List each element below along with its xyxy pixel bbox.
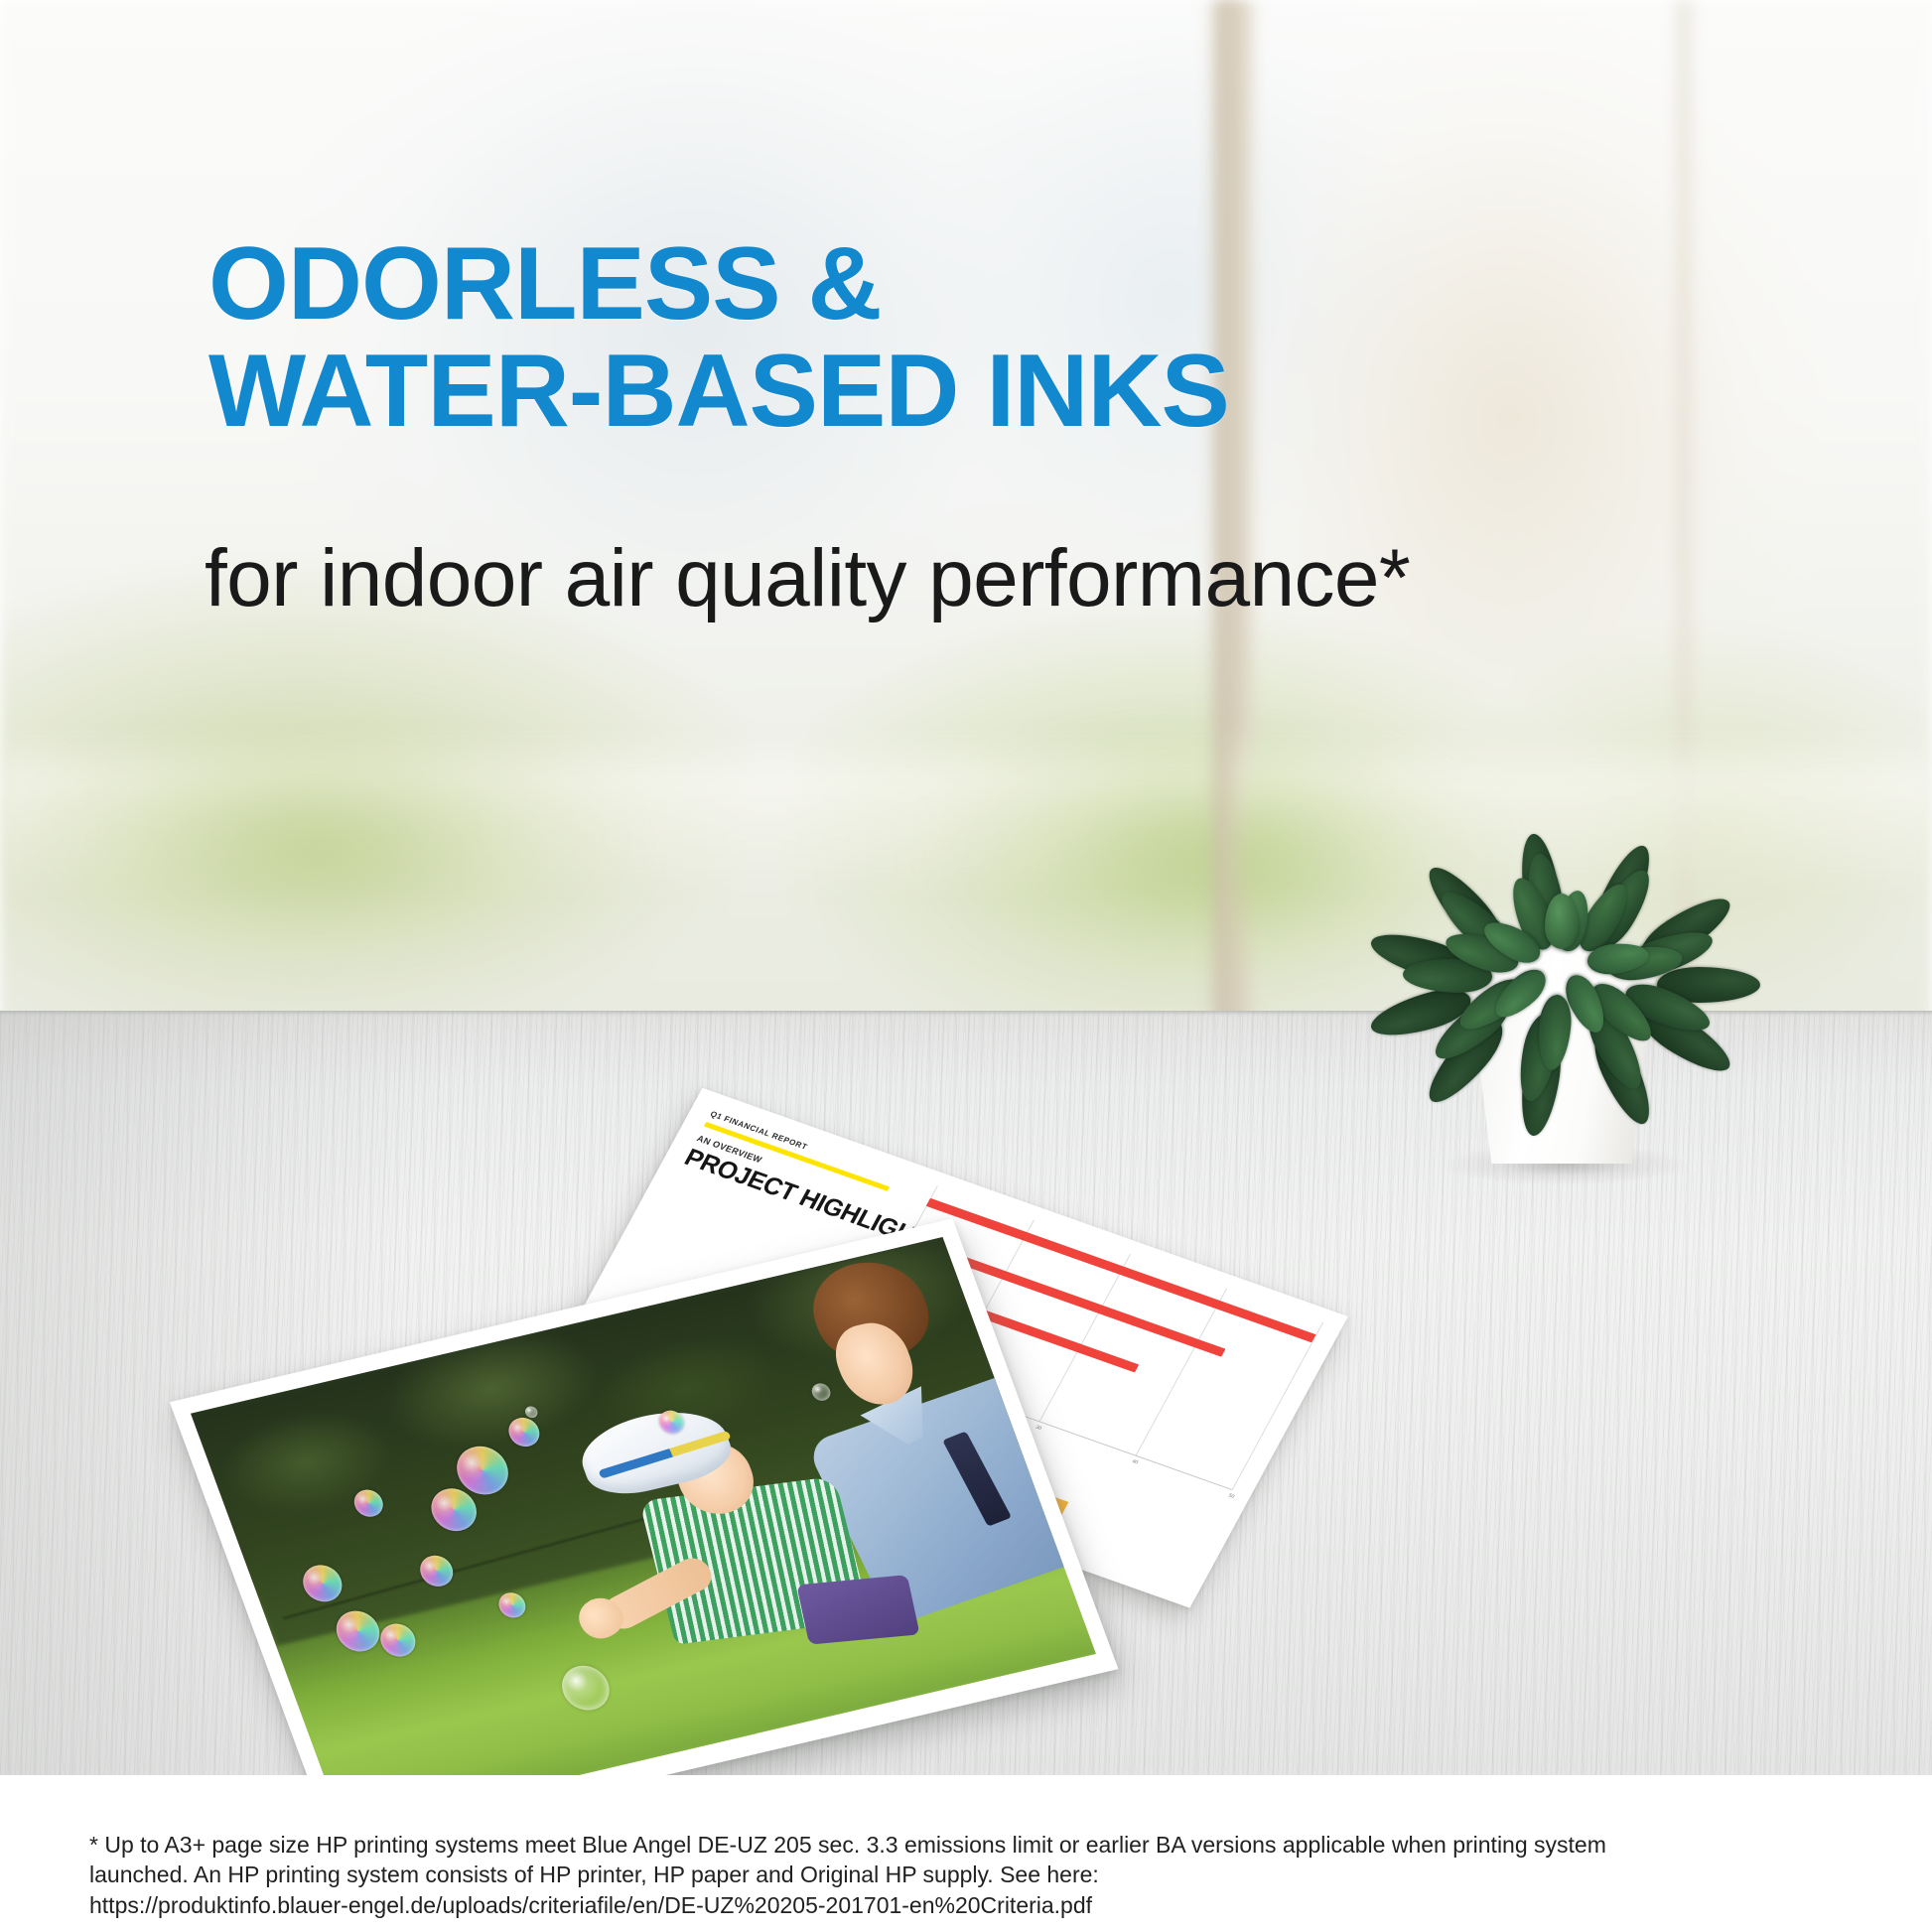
footnote-line-2: launched. An HP printing system consists… xyxy=(89,1860,1866,1889)
poster-canvas: Q1 FINANCIAL REPORT AN OVERVIEW PROJECT … xyxy=(0,0,1932,1932)
chart-tick: 50 xyxy=(1227,1493,1235,1500)
headline-line-1: ODORLESS & xyxy=(208,226,882,342)
toddler-shorts xyxy=(796,1575,919,1644)
chart-tick: 30 xyxy=(1035,1425,1042,1432)
potted-succulent xyxy=(1405,715,1723,1172)
foliage-blur-left xyxy=(0,685,695,1013)
chart-tick: 40 xyxy=(1131,1458,1139,1465)
headline-line-2: WATER-BASED INKS xyxy=(208,338,1698,445)
page-subheadline: for indoor air quality performance* xyxy=(205,536,1813,621)
footnote-url[interactable]: https://produktinfo.blauer-engel.de/uplo… xyxy=(89,1890,1866,1920)
legal-footnote: * Up to A3+ page size HP printing system… xyxy=(89,1830,1866,1920)
page-headline: ODORLESS & WATER-BASED INKS xyxy=(208,230,1698,445)
footnote-line-1: * Up to A3+ page size HP printing system… xyxy=(89,1830,1866,1860)
window-mullion xyxy=(1206,0,1240,1023)
